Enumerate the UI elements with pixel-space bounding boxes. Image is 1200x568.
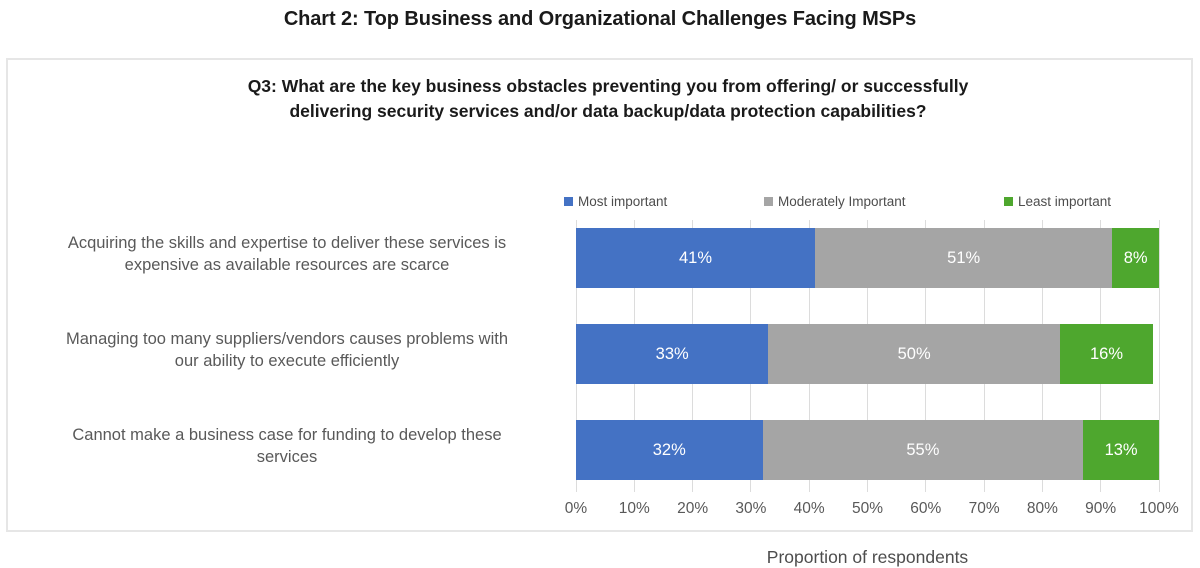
bar-segment-most-important[interactable]: 33% bbox=[576, 324, 768, 384]
x-axis-tick-label: 20% bbox=[677, 500, 708, 518]
x-axis-tick-label: 50% bbox=[852, 500, 883, 518]
x-axis-tick-label: 80% bbox=[1027, 500, 1058, 518]
category-label-line: Managing too many suppliers/vendors caus… bbox=[22, 328, 552, 350]
x-axis-tick-label: 30% bbox=[735, 500, 766, 518]
category-label-2: Cannot make a business case for funding … bbox=[22, 424, 552, 469]
legend-label: Least important bbox=[1018, 194, 1111, 209]
bar-segment-least-important[interactable]: 13% bbox=[1083, 420, 1159, 480]
category-label-line: services bbox=[22, 446, 552, 468]
stacked-bar-row-1[interactable]: 33% 50% 16% bbox=[576, 324, 1159, 384]
x-axis-tick-label: 60% bbox=[910, 500, 941, 518]
chart-page: Chart 2: Top Business and Organizational… bbox=[0, 0, 1200, 539]
category-label-line: Acquiring the skills and expertise to de… bbox=[22, 232, 552, 254]
legend-item-least-important[interactable]: Least important bbox=[1004, 194, 1111, 209]
bar-segment-moderately-important[interactable]: 55% bbox=[763, 420, 1084, 480]
x-axis-title: Proportion of respondents bbox=[570, 547, 1165, 568]
chart-panel: Q3: What are the key business obstacles … bbox=[6, 58, 1193, 532]
x-axis-tick-label: 40% bbox=[794, 500, 825, 518]
legend-label: Moderately Important bbox=[778, 194, 906, 209]
plot-inner: 41% 51% 8% 33% 50% 16% 32% 55% 13% bbox=[576, 220, 1159, 492]
square-marker-icon bbox=[764, 197, 773, 206]
stacked-bar-row-2[interactable]: 32% 55% 13% bbox=[576, 420, 1159, 480]
chart-caption: Chart 2: Top Business and Organizational… bbox=[0, 8, 1200, 31]
category-label-line: expensive as available resources are sca… bbox=[22, 254, 552, 276]
category-label-line: Cannot make a business case for funding … bbox=[22, 424, 552, 446]
chart-question-title: Q3: What are the key business obstacles … bbox=[128, 74, 1088, 125]
bar-segment-moderately-important[interactable]: 50% bbox=[768, 324, 1060, 384]
bar-segment-least-important[interactable]: 16% bbox=[1060, 324, 1153, 384]
legend-item-moderately-important[interactable]: Moderately Important bbox=[764, 194, 906, 209]
bar-segment-most-important[interactable]: 32% bbox=[576, 420, 763, 480]
x-axis-tick-label: 10% bbox=[619, 500, 650, 518]
legend-label: Most important bbox=[578, 194, 667, 209]
bar-segment-most-important[interactable]: 41% bbox=[576, 228, 815, 288]
category-label-0: Acquiring the skills and expertise to de… bbox=[22, 232, 552, 277]
bar-segment-moderately-important[interactable]: 51% bbox=[815, 228, 1112, 288]
legend-item-most-important[interactable]: Most important bbox=[564, 194, 667, 209]
stacked-bar-row-0[interactable]: 41% 51% 8% bbox=[576, 228, 1159, 288]
question-line-2: delivering security services and/or data… bbox=[128, 99, 1088, 124]
category-axis-labels: Acquiring the skills and expertise to de… bbox=[20, 220, 560, 492]
question-line-1: Q3: What are the key business obstacles … bbox=[128, 74, 1088, 99]
square-marker-icon bbox=[564, 197, 573, 206]
x-axis-tick-label: 70% bbox=[969, 500, 1000, 518]
x-axis-tick-label: 100% bbox=[1139, 500, 1179, 518]
x-axis-tick-label: 90% bbox=[1085, 500, 1116, 518]
x-axis-tick-labels: 0%10%20%30%40%50%60%70%80%90%100% bbox=[570, 500, 1165, 522]
category-label-1: Managing too many suppliers/vendors caus… bbox=[22, 328, 552, 373]
bar-segment-least-important[interactable]: 8% bbox=[1112, 228, 1159, 288]
x-axis-tick-label: 0% bbox=[565, 500, 587, 518]
category-label-line: our ability to execute efficiently bbox=[22, 350, 552, 372]
square-marker-icon bbox=[1004, 197, 1013, 206]
chart-legend: Most important Moderately Important Leas… bbox=[564, 194, 1164, 212]
plot-area: 41% 51% 8% 33% 50% 16% 32% 55% 13% bbox=[570, 220, 1159, 492]
